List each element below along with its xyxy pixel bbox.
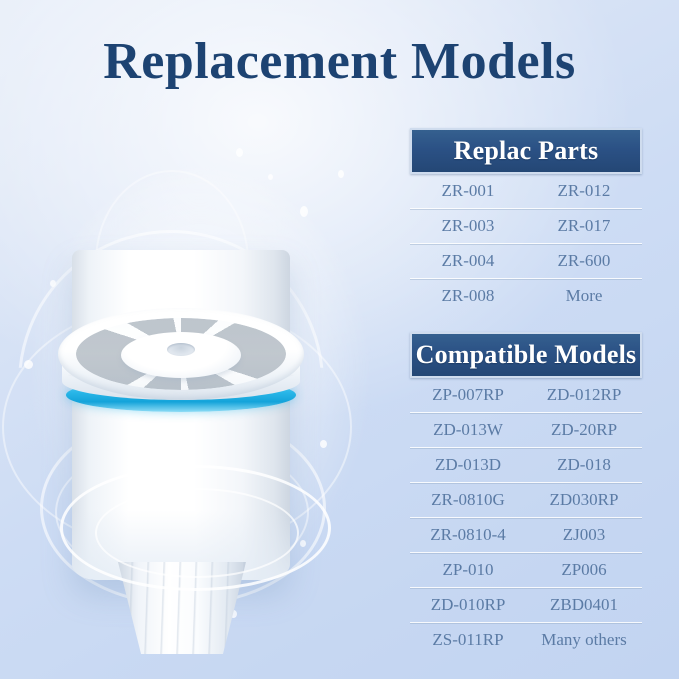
water-droplet xyxy=(338,170,344,178)
water-droplet xyxy=(24,360,33,369)
replacement-parts-rows: ZR-001 ZR-012 ZR-003 ZR-017 ZR-004 ZR-60… xyxy=(410,174,642,313)
table-cell: ZD-010RP xyxy=(410,595,526,615)
table-row: ZR-008 More xyxy=(410,279,642,313)
compatible-models-table: Compatible Models ZP-007RP ZD-012RP ZD-0… xyxy=(410,332,642,657)
page-title: Replacement Models xyxy=(0,36,679,88)
table-row: ZD-013D ZD-018 xyxy=(410,448,642,483)
table-cell: ZR-001 xyxy=(410,181,526,201)
compatible-models-rows: ZP-007RP ZD-012RP ZD-013W ZD-20RP ZD-013… xyxy=(410,378,642,657)
table-row: ZD-010RP ZBD0401 xyxy=(410,588,642,623)
table-cell: ZR-004 xyxy=(410,251,526,271)
table-cell: ZR-017 xyxy=(526,216,642,236)
table-header-compatible-models: Compatible Models xyxy=(410,332,642,378)
water-droplet xyxy=(236,148,243,157)
water-droplet xyxy=(50,280,56,287)
table-cell: ZS-011RP xyxy=(410,630,526,650)
table-row: ZR-0810G ZD030RP xyxy=(410,483,642,518)
table-cell: ZR-008 xyxy=(410,286,526,306)
table-cell: ZR-0810G xyxy=(410,490,526,510)
table-row: ZR-003 ZR-017 xyxy=(410,209,642,244)
table-cell: ZR-012 xyxy=(526,181,642,201)
table-cell: ZP-007RP xyxy=(410,385,526,405)
table-row: ZR-004 ZR-600 xyxy=(410,244,642,279)
replacement-parts-table: Replac Parts ZR-001 ZR-012 ZR-003 ZR-017… xyxy=(410,128,642,313)
table-row: ZR-001 ZR-012 xyxy=(410,174,642,209)
table-cell: ZR-0810-4 xyxy=(410,525,526,545)
table-cell: ZD030RP xyxy=(526,490,642,510)
filter-cap-center-hole xyxy=(167,343,195,356)
product-poster: Replacement Models xyxy=(0,0,679,679)
table-header-replacement-parts: Replac Parts xyxy=(410,128,642,174)
table-cell: ZD-20RP xyxy=(526,420,642,440)
table-row: ZR-0810-4 ZJ003 xyxy=(410,518,642,553)
table-cell: ZD-013D xyxy=(410,455,526,475)
table-cell: ZP006 xyxy=(526,560,642,580)
table-header-label: Compatible Models xyxy=(416,340,637,370)
table-row: ZD-013W ZD-20RP xyxy=(410,413,642,448)
table-row: ZP-010 ZP006 xyxy=(410,553,642,588)
table-row: ZP-007RP ZD-012RP xyxy=(410,378,642,413)
table-row: ZS-011RP Many others xyxy=(410,623,642,657)
water-droplet xyxy=(320,440,327,448)
table-cell: ZD-018 xyxy=(526,455,642,475)
table-header-label: Replac Parts xyxy=(454,136,599,166)
table-cell: Many others xyxy=(526,630,642,650)
table-cell: ZJ003 xyxy=(526,525,642,545)
water-droplet xyxy=(300,206,308,217)
product-image xyxy=(0,110,400,670)
table-cell: More xyxy=(526,286,642,306)
table-cell: ZR-600 xyxy=(526,251,642,271)
water-splash-foreground xyxy=(95,488,299,578)
table-cell: ZR-003 xyxy=(410,216,526,236)
table-cell: ZD-013W xyxy=(410,420,526,440)
table-cell: ZD-012RP xyxy=(526,385,642,405)
table-cell: ZBD0401 xyxy=(526,595,642,615)
water-droplet xyxy=(268,174,273,180)
table-cell: ZP-010 xyxy=(410,560,526,580)
